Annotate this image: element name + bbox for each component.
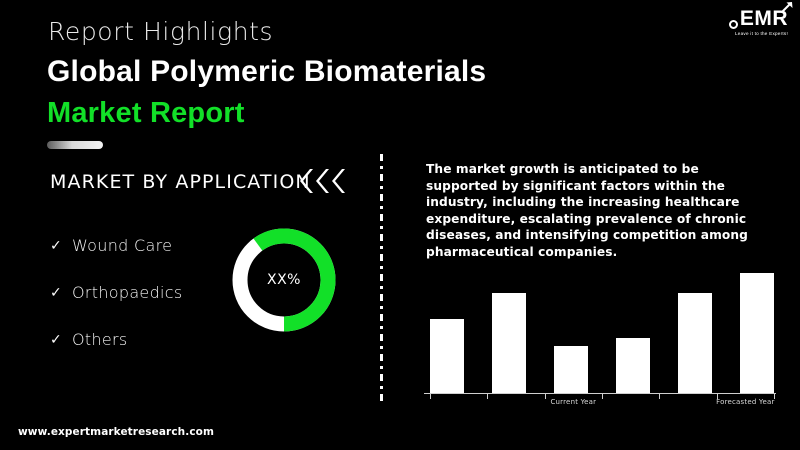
check-icon: ✓: [50, 285, 72, 301]
logo-tagline: Leave it to the Experts!: [702, 31, 788, 36]
bar-chart-bar: [616, 338, 650, 393]
bar-chart-bar: [554, 346, 588, 393]
summary-paragraph: The market growth is anticipated to be s…: [426, 161, 774, 260]
application-list: ✓ Wound Care ✓ Orthopaedics ✓ Others: [50, 222, 225, 363]
title-underline-pill: [47, 141, 103, 149]
logo-arrow-icon: [780, 0, 794, 14]
bar-chart-bar: [492, 293, 526, 393]
bar-chart-bar: [678, 293, 712, 393]
logo-mark: EMR: [729, 8, 788, 29]
donut-chart-svg: [232, 228, 336, 332]
bar-chart-axis-label: Forecasted Year: [716, 398, 774, 406]
footer-url: www.expertmarketresearch.com: [18, 426, 214, 438]
list-item: ✓ Wound Care: [50, 222, 225, 269]
slide-canvas: EMR Leave it to the Experts! Report High…: [0, 0, 800, 450]
list-item: ✓ Others: [50, 316, 225, 363]
page-title: Global Polymeric Biomaterials: [47, 55, 486, 89]
report-kicker: Report Highlights: [48, 17, 273, 46]
check-icon: ✓: [50, 332, 72, 348]
bar-chart-axis-labels: Current YearForecasted Year: [424, 398, 776, 412]
emr-logo: EMR Leave it to the Experts!: [702, 8, 788, 42]
section-heading-market-by-application: MARKET BY APPLICATION: [50, 171, 311, 193]
bar-chart-axis-label: Current Year: [550, 398, 596, 406]
list-item-label: Others: [72, 330, 128, 349]
bar-chart: Current YearForecasted Year: [424, 262, 776, 412]
vertical-dotted-divider: [380, 154, 383, 402]
check-icon: ✓: [50, 238, 72, 254]
triple-chevron-left-icon: [300, 168, 347, 194]
bar-chart-bar: [740, 273, 774, 393]
list-item: ✓ Orthopaedics: [50, 269, 225, 316]
list-item-label: Orthopaedics: [72, 283, 183, 302]
list-item-label: Wound Care: [72, 236, 172, 255]
bar-chart-bars: [430, 265, 774, 393]
logo-ring-icon: [729, 20, 738, 29]
bar-chart-bar: [430, 319, 464, 393]
page-title-accent: Market Report: [47, 97, 245, 130]
donut-chart: XX%: [232, 228, 336, 332]
